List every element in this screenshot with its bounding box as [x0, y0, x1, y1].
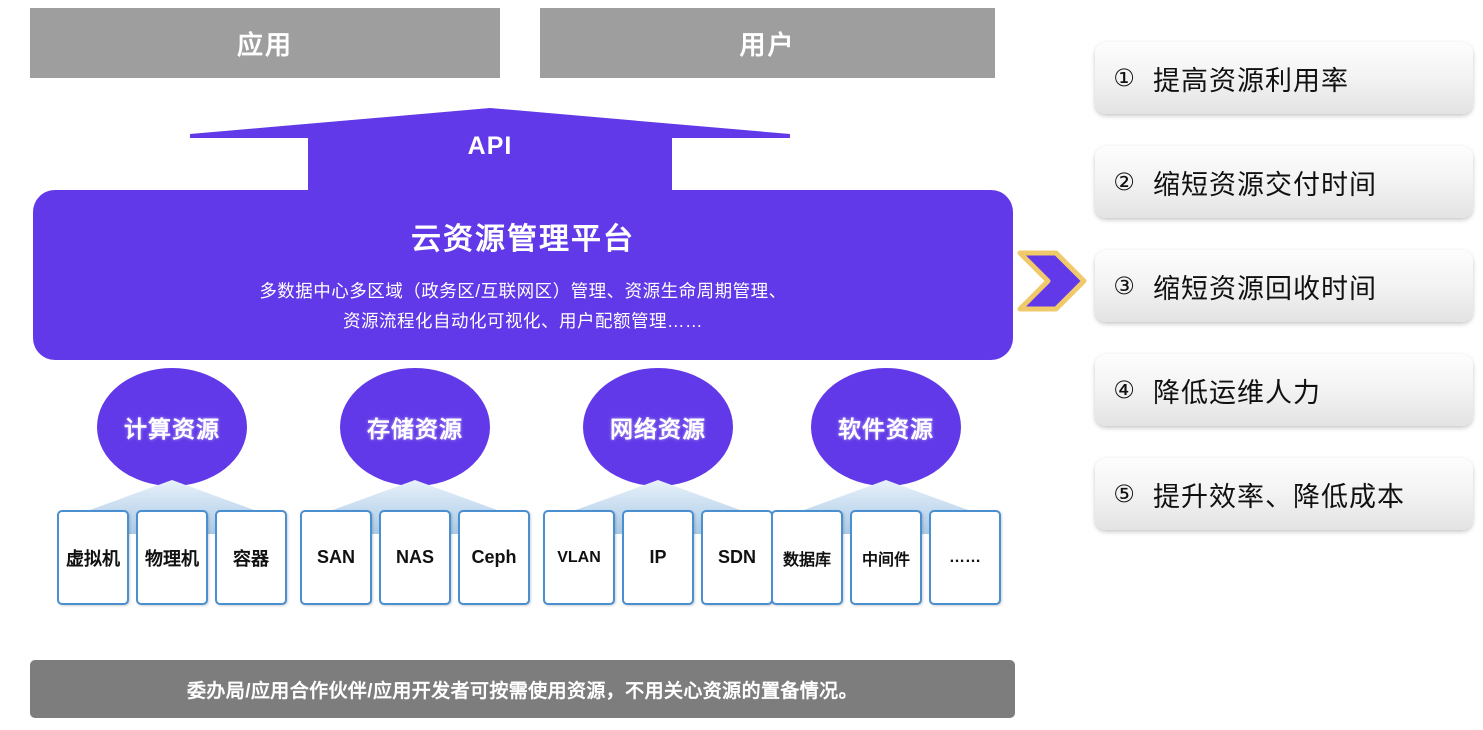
leaf-label: ……: [949, 549, 981, 567]
resource-bubble-network-label: 网络资源: [610, 410, 706, 444]
benefits-list: ① 提高资源利用率 ② 缩短资源交付时间 ③ 缩短资源回收时间 ④ 降低运维人力…: [1095, 42, 1473, 547]
benefit-label: 缩短资源回收时间: [1153, 267, 1377, 306]
bottom-summary-banner-label: 委办局/应用合作伙伴/应用开发者可按需使用资源，不用关心资源的置备情况。: [187, 676, 858, 703]
platform-description-line-1: 多数据中心多区域（政务区/互联网区）管理、资源生命周期管理、: [259, 276, 786, 306]
benefit-number: ①: [1095, 64, 1153, 93]
benefit-label: 提高资源利用率: [1153, 59, 1349, 98]
benefit-number: ⑤: [1095, 480, 1153, 509]
resource-group-software: 软件资源 数据库 中间件 ……: [771, 368, 1001, 630]
benefit-card[interactable]: ② 缩短资源交付时间: [1095, 146, 1473, 218]
leaf-item: Ceph: [458, 510, 530, 605]
leaf-row-software: 数据库 中间件 ……: [771, 510, 1001, 605]
leaf-label: IP: [649, 547, 666, 568]
leaf-item: 容器: [215, 510, 287, 605]
benefit-number: ③: [1095, 272, 1153, 301]
leaf-item: 虚拟机: [57, 510, 129, 605]
bottom-summary-banner: 委办局/应用合作伙伴/应用开发者可按需使用资源，不用关心资源的置备情况。: [30, 660, 1015, 718]
api-banner: API: [190, 108, 790, 190]
resource-bubble-storage-label: 存储资源: [367, 410, 463, 444]
leaf-label: SAN: [317, 547, 355, 568]
leaf-label: SDN: [718, 547, 756, 568]
benefit-label: 降低运维人力: [1153, 371, 1321, 410]
resource-group-compute: 计算资源 虚拟机 物理机 容器: [57, 368, 287, 630]
benefit-card[interactable]: ⑤ 提升效率、降低成本: [1095, 458, 1473, 530]
leaf-label: 虚拟机: [66, 545, 120, 571]
benefit-card[interactable]: ① 提高资源利用率: [1095, 42, 1473, 114]
benefit-number: ④: [1095, 376, 1153, 405]
leaf-item: 数据库: [771, 510, 843, 605]
leaf-item: SAN: [300, 510, 372, 605]
benefit-card[interactable]: ④ 降低运维人力: [1095, 354, 1473, 426]
leaf-item: 中间件: [850, 510, 922, 605]
leaf-label: Ceph: [472, 547, 517, 568]
consumer-box-application-label: 应用: [237, 25, 293, 62]
chevron-right-icon: [1008, 243, 1088, 323]
leaf-item: VLAN: [543, 510, 615, 605]
consumer-box-user: 用户: [540, 8, 995, 78]
benefit-number: ②: [1095, 168, 1153, 197]
leaf-label: 数据库: [783, 546, 831, 570]
benefit-label: 缩短资源交付时间: [1153, 163, 1377, 202]
resource-bubble-storage: 存储资源: [340, 368, 490, 486]
benefit-label: 提升效率、降低成本: [1153, 475, 1405, 514]
leaf-item: IP: [622, 510, 694, 605]
leaf-item: 物理机: [136, 510, 208, 605]
resource-group-storage: 存储资源 SAN NAS Ceph: [300, 368, 530, 630]
consumer-box-user-label: 用户: [739, 25, 795, 62]
leaf-label: 物理机: [145, 545, 199, 571]
consumer-box-application: 应用: [30, 8, 500, 78]
benefit-card[interactable]: ③ 缩短资源回收时间: [1095, 250, 1473, 322]
platform-description-line-2: 资源流程化自动化可视化、用户配额管理……: [343, 306, 703, 336]
leaf-item: NAS: [379, 510, 451, 605]
diagram-canvas: 应用 用户 API 云资源管理平台 多数据中心多区域（政务区/互联网区）管理、资…: [0, 0, 1483, 730]
platform-title: 云资源管理平台: [411, 214, 635, 258]
api-banner-label: API: [190, 132, 790, 161]
leaf-item: ……: [929, 510, 1001, 605]
resource-group-network: 网络资源 VLAN IP SDN: [543, 368, 773, 630]
resource-bubble-software: 软件资源: [811, 368, 961, 486]
leaf-label: NAS: [396, 547, 434, 568]
leaf-label: 容器: [233, 545, 269, 571]
leaf-label: VLAN: [557, 549, 601, 567]
cloud-resource-platform-box: 云资源管理平台 多数据中心多区域（政务区/互联网区）管理、资源生命周期管理、 资…: [33, 190, 1013, 360]
resource-bubble-compute-label: 计算资源: [124, 410, 220, 444]
leaf-label: 中间件: [862, 546, 910, 570]
leaf-row-compute: 虚拟机 物理机 容器: [57, 510, 287, 605]
leaf-item: SDN: [701, 510, 773, 605]
resource-bubble-compute: 计算资源: [97, 368, 247, 486]
resource-bubble-network: 网络资源: [583, 368, 733, 486]
leaf-row-storage: SAN NAS Ceph: [300, 510, 530, 605]
leaf-row-network: VLAN IP SDN: [543, 510, 773, 605]
resource-bubble-software-label: 软件资源: [838, 410, 934, 444]
